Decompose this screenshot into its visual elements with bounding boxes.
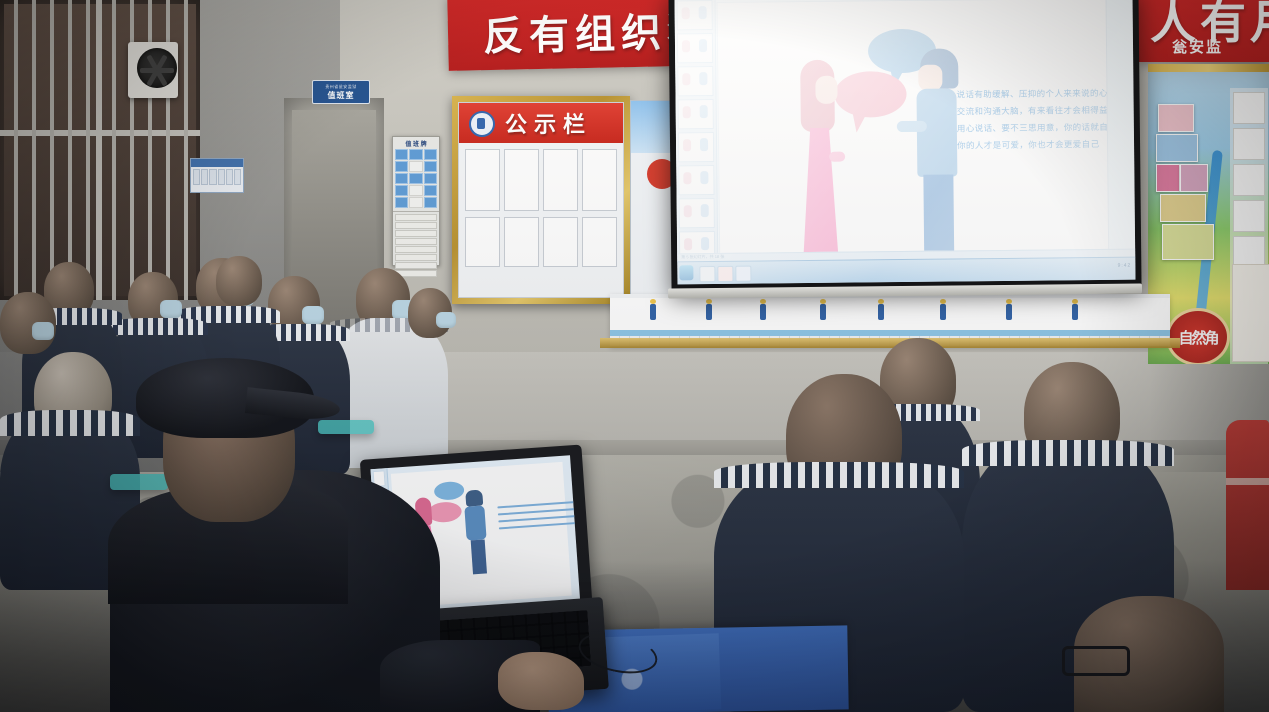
slide-thumbnail <box>678 132 714 162</box>
door-sign-main-text: 值班室 <box>328 90 355 101</box>
picture-frame-rail <box>600 338 1180 348</box>
public-notice-board: 公示栏 <box>452 96 630 304</box>
wall-sign-left <box>190 158 244 193</box>
duty-board-grid <box>393 149 439 208</box>
slide-text-line-3: 用心说话、要不三思用意，你的话就自己的心最近， <box>957 119 1109 138</box>
nature-corner-emblem: 自然角 <box>1166 308 1230 364</box>
exhaust-fan-icon <box>137 48 177 88</box>
scene-photo: 贵州省瓮安监狱 值班室 值 班 牌 反有组织犯 人有月 瓮安监 公示栏 <box>0 0 1269 712</box>
door-sign-small-text: 贵州省瓮安监狱 <box>325 84 357 90</box>
slide-thumbnail <box>677 0 713 30</box>
projection-screen: 说话有助缓解、压抑的个人来来说的心理需要， 交流和沟通大脑，有来看往才会相得益彰… <box>668 0 1141 292</box>
taskbar-clock: 9:42 <box>1118 263 1132 269</box>
taskbar-icon-explorer[interactable] <box>699 266 715 282</box>
banner-right-sub-text: 瓮安监 <box>1172 36 1223 57</box>
laptop-speech-bubble-blue-icon <box>434 481 465 501</box>
notice-documents-row2 <box>459 217 623 267</box>
windows-taskbar[interactable]: 9:42 <box>677 257 1135 285</box>
taskbar-icon-browser[interactable] <box>735 266 751 282</box>
slide-text-block: 说话有助缓解、压抑的个人来来说的心理需要， 交流和沟通大脑，有来看往才会相得益彰… <box>956 85 1109 155</box>
powerpoint-thumbnail-panel[interactable] <box>675 0 719 262</box>
banner-right: 人有月 瓮安监 <box>1138 0 1269 62</box>
slide-thumbnail <box>678 99 714 129</box>
slide-text-line-1: 说话有助缓解、压抑的个人来来说的心理需要， <box>956 85 1109 104</box>
slide-text-line-4: 你的人才是可爱，你也才会更爱自己 <box>957 136 1109 155</box>
speech-bubble-pink-icon <box>834 71 906 118</box>
slide-thumbnail <box>677 66 713 96</box>
notice-board-title: 公示栏 <box>505 107 592 139</box>
police-emblem-icon <box>469 111 495 137</box>
duty-board-title: 值 班 牌 <box>393 137 439 149</box>
officer-hand <box>498 652 584 710</box>
duty-board-schedule <box>393 211 439 280</box>
taskbar-icon-powerpoint[interactable] <box>717 266 733 282</box>
slide-thumbnail <box>679 198 715 228</box>
notice-documents-row1 <box>459 143 623 217</box>
slide-thumbnail <box>677 33 713 63</box>
illustration-woman <box>798 60 844 254</box>
red-jacket-person <box>1226 420 1269 590</box>
slide-thumbnail <box>678 165 714 195</box>
laptop-slide-text <box>497 501 577 534</box>
bulletin-news-clipping <box>1232 264 1269 362</box>
start-button-icon[interactable] <box>679 265 693 280</box>
laptop-illustration-man <box>462 489 490 572</box>
duty-board: 值 班 牌 <box>392 136 440 266</box>
eyeglasses-icon <box>1062 646 1130 676</box>
projected-desktop: 说话有助缓解、压抑的个人来来说的心理需要， 交流和沟通大脑，有来看往才会相得益彰… <box>675 0 1136 284</box>
stool-3 <box>318 420 374 434</box>
current-slide: 说话有助缓解、压抑的个人来来说的心理需要， 交流和沟通大脑，有来看往才会相得益彰… <box>717 0 1110 254</box>
door-sign: 贵州省瓮安监狱 值班室 <box>312 80 370 104</box>
stool-2 <box>110 474 168 490</box>
slide-text-line-2: 交流和沟通大脑，有来看往才会相得益彰， <box>957 102 1110 121</box>
